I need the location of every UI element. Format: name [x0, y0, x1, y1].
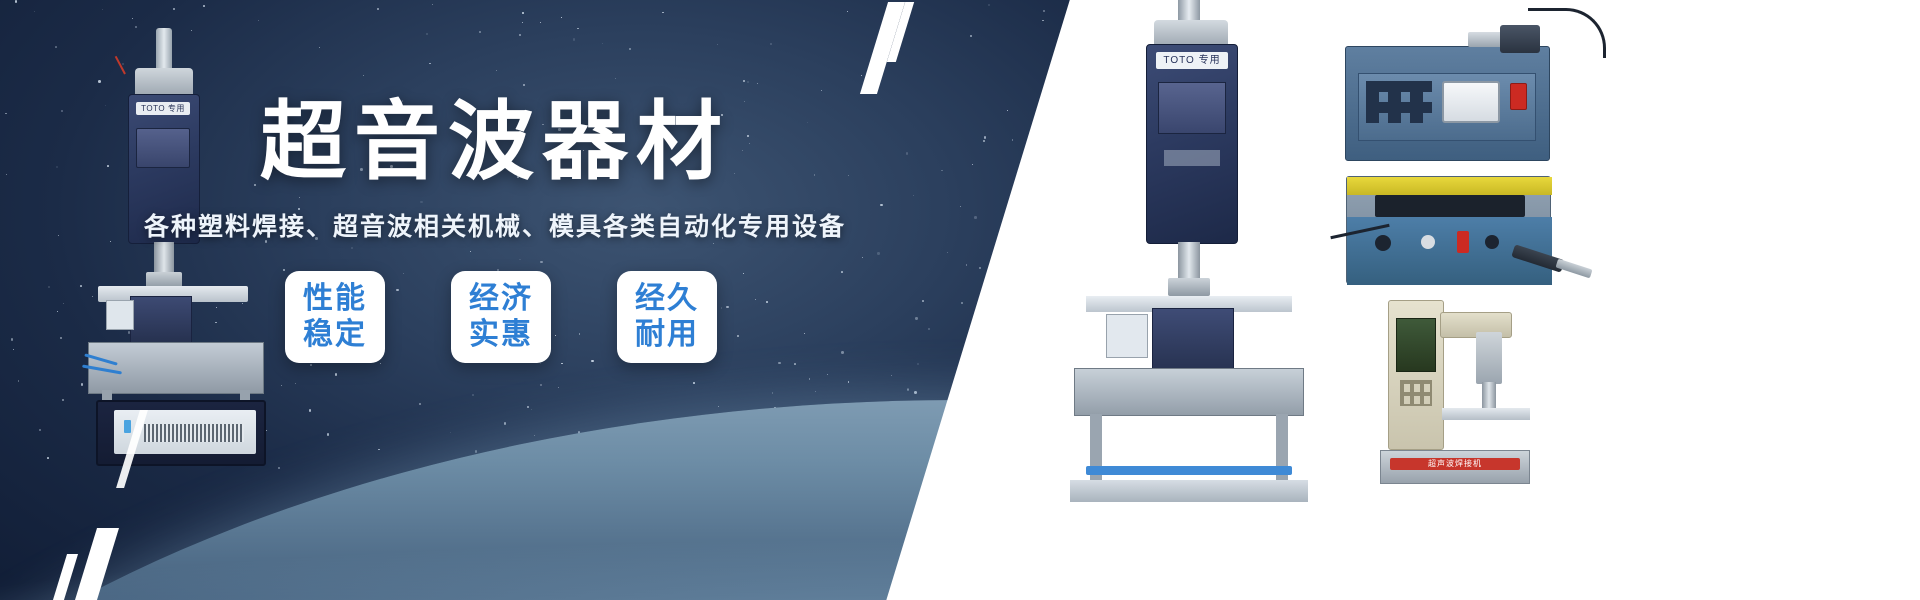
badge-line-2: 稳定: [303, 317, 367, 352]
product-transducer-photo: [1468, 22, 1564, 56]
tall-welder-label: 超声波焊接机: [1390, 458, 1520, 470]
product-handheld-welder-photo: [1512, 240, 1598, 286]
badge-line-1: 经久: [635, 281, 699, 316]
badge-line-1: 性能: [303, 281, 367, 316]
banner-copy-block: 超音波器材 各种塑料焊接、超音波相关机械、模具各类自动化专用设备 性能 稳定 经…: [0, 96, 990, 363]
feature-badge-durability[interactable]: 经久 耐用: [617, 271, 717, 363]
feature-badge-economy[interactable]: 经济 实惠: [451, 271, 551, 363]
badge-line-2: 实惠: [469, 317, 533, 352]
banner-subtitle: 各种塑料焊接、超音波相关机械、模具各类自动化专用设备: [0, 207, 990, 243]
badge-line-1: 经济: [469, 281, 533, 316]
product-generator-photo: [1345, 46, 1550, 161]
decorative-slash-bottom-left-b: [53, 554, 78, 600]
hero-banner: TOTO 专用 TOTO 专用: [0, 0, 1920, 600]
feature-badge-performance[interactable]: 性能 稳定: [285, 271, 385, 363]
right-large-welding-machine-photo: TOTO 专用: [1060, 0, 1320, 520]
page-title: 超音波器材: [0, 96, 990, 189]
product-tall-welder-photo: 超声波焊接机: [1380, 300, 1530, 496]
feature-badge-list: 性能 稳定 经济 实惠 经久 耐用: [0, 271, 990, 363]
big-machine-label: TOTO 专用: [1156, 52, 1228, 69]
badge-line-2: 耐用: [635, 317, 699, 352]
